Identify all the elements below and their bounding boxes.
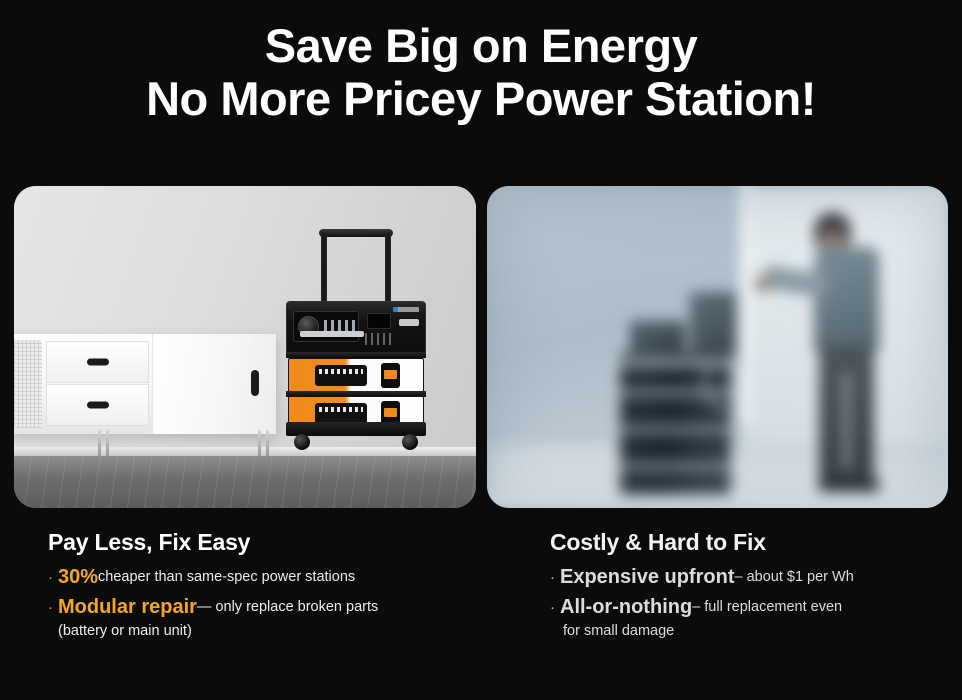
console-leg xyxy=(98,430,101,456)
bullet-dot-icon: · xyxy=(550,600,560,615)
trolley-handle-grip xyxy=(319,229,393,237)
bullet-continuation: (battery or main unit) xyxy=(58,624,487,639)
ac-outlet-icon xyxy=(399,319,419,326)
bullet-dot-icon: · xyxy=(48,600,58,615)
person-shoes xyxy=(819,479,879,492)
battery-stack-seam xyxy=(620,427,731,432)
blurred-scene xyxy=(487,186,949,508)
trolley-handle-pole xyxy=(385,233,391,303)
caster-wheel-icon xyxy=(294,434,310,450)
column-costly: Costly & Hard to Fix ·Expensive upfront–… xyxy=(487,522,962,700)
console-speaker-mesh xyxy=(14,340,42,428)
drawer-handle-icon xyxy=(87,359,109,366)
white-console-cabinet xyxy=(14,334,276,434)
person-torso xyxy=(814,247,879,353)
column-pay-less: Pay Less, Fix Easy ·30%cheaper than same… xyxy=(0,522,487,700)
battery-module-upper xyxy=(288,358,424,392)
person-leg-gap xyxy=(842,373,851,470)
console-door xyxy=(152,334,276,434)
bullet-dot-icon: · xyxy=(550,570,560,585)
control-panel-screen xyxy=(293,311,359,342)
inverter-box-tall xyxy=(690,292,736,356)
bullet-text: cheaper than same-spec power stations xyxy=(98,569,355,585)
battery-label-plate xyxy=(315,403,367,424)
power-station-base xyxy=(286,422,426,436)
column-left-title: Pay Less, Fix Easy xyxy=(48,529,487,556)
battery-badge-icon xyxy=(381,363,400,388)
caster-wheel-icon xyxy=(402,434,418,450)
drawer-handle-icon xyxy=(87,402,109,409)
column-left-bullets: ·30%cheaper than same-spec power station… xyxy=(48,567,487,639)
bullet-dot-icon: · xyxy=(48,570,58,585)
bullet-item: ·Modular repair— only replace broken par… xyxy=(48,597,487,639)
benefit-comparison-columns: Pay Less, Fix Easy ·30%cheaper than same… xyxy=(0,522,962,700)
door-handle-icon xyxy=(251,370,259,396)
panel-label-strip xyxy=(300,331,364,337)
bullet-item: ·Expensive upfront– about $1 per Wh xyxy=(550,567,962,587)
trolley-handle-pole xyxy=(321,233,327,303)
portable-power-station xyxy=(286,301,426,446)
bullet-item: ·All-or-nothing– full replacement even f… xyxy=(550,597,962,639)
column-right-title: Costly & Hard to Fix xyxy=(550,529,962,556)
bullet-highlight: 30% xyxy=(58,566,98,588)
cable-loop xyxy=(703,353,745,411)
bullet-text: – about $1 per Wh xyxy=(734,569,853,585)
bullet-continuation: for small damage xyxy=(563,624,962,639)
bullet-highlight: Modular repair xyxy=(58,596,197,618)
bullet-text: — only replace broken parts xyxy=(197,599,378,615)
person-hand xyxy=(754,276,772,292)
bullet-text: – full replacement even xyxy=(692,599,842,615)
bullet-highlight: All-or-nothing xyxy=(560,596,692,618)
promo-banner: { "headline": { "line1": "Save Big on En… xyxy=(0,0,962,700)
inverter-box-small xyxy=(630,321,685,360)
bullet-highlight: Expensive upfront xyxy=(560,566,734,588)
status-display xyxy=(367,313,391,329)
column-right-bullets: ·Expensive upfront– about $1 per Wh ·All… xyxy=(550,567,962,639)
left-product-photo xyxy=(14,186,476,508)
battery-stack-seam xyxy=(620,464,731,469)
battery-label-plate xyxy=(315,365,367,386)
power-station-control-unit xyxy=(286,301,426,353)
port-row-icon xyxy=(365,333,393,345)
console-leg xyxy=(258,430,261,456)
console-drawer-bottom xyxy=(46,384,149,426)
headline: Save Big on Energy No More Pricey Power … xyxy=(0,0,962,125)
console-leg xyxy=(106,430,109,456)
bullet-item: ·30%cheaper than same-spec power station… xyxy=(48,567,487,587)
brand-logo xyxy=(393,307,419,312)
headline-line-2: No More Pricey Power Station! xyxy=(0,73,962,126)
room-floor xyxy=(14,456,476,508)
headline-line-1: Save Big on Energy xyxy=(0,20,962,73)
console-drawer-top xyxy=(46,341,149,383)
right-product-photo xyxy=(487,186,949,508)
comparison-cards xyxy=(14,186,948,508)
console-leg xyxy=(266,430,269,456)
